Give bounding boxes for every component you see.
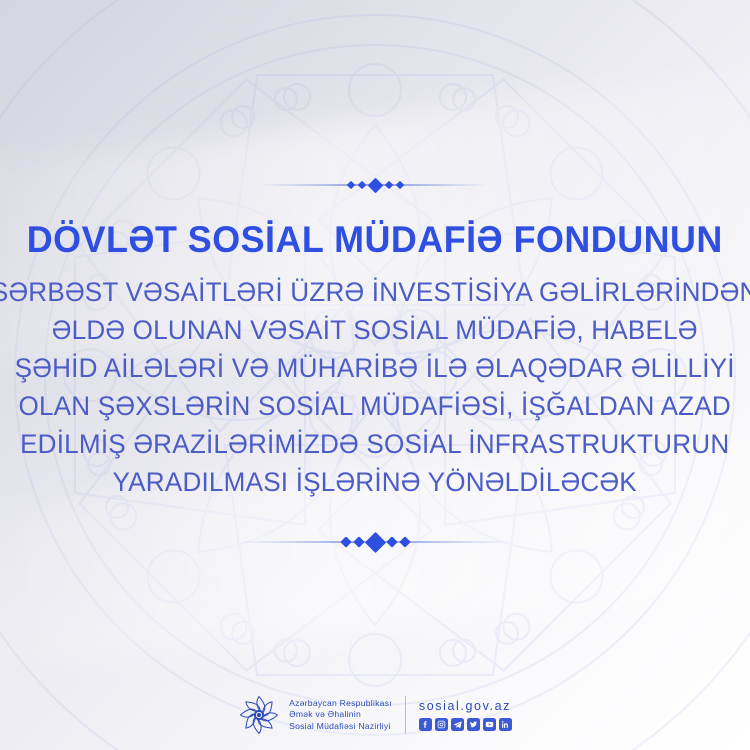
body-paragraph: SƏRBƏST VƏSAİTLƏRİ ÜZRƏ İNVESTİSİYA GƏLİ…	[0, 273, 750, 501]
facebook-icon[interactable]	[419, 718, 432, 731]
ministry-brand[interactable]: Azərbaycan Respublikası Əmək və Əhalinin…	[238, 694, 392, 736]
ministry-line: Azərbaycan Respublikası	[289, 698, 392, 709]
web-and-socials: sosial.gov.az	[419, 699, 512, 731]
diamond-icon	[340, 537, 351, 548]
body-line: ŞƏHİD AİLƏLƏRİ VƏ MÜHARİBƏ İLƏ ƏLAQƏDAR …	[0, 349, 750, 387]
top-divider	[348, 178, 403, 192]
bottom-divider	[342, 533, 409, 551]
instagram-icon[interactable]	[435, 718, 448, 731]
social-links	[419, 718, 512, 731]
poster-canvas: DÖVLƏT SOSİAL MÜDAFİƏ FONDUNUN SƏRBƏST V…	[0, 0, 750, 750]
diamond-icon	[346, 181, 354, 189]
youtube-icon[interactable]	[483, 718, 496, 731]
footer: Azərbaycan Respublikası Əmək və Əhalinin…	[0, 694, 750, 736]
twitter-icon[interactable]	[467, 718, 480, 731]
website-link[interactable]: sosial.gov.az	[419, 699, 511, 713]
linkedin-icon[interactable]	[499, 718, 512, 731]
footer-separator	[405, 696, 406, 734]
body-line: OLAN ŞƏXSLƏRİN SOSİAL MÜDAFİƏSİ, İŞĞALDA…	[0, 387, 750, 425]
ministry-line: Əmək və Əhalinin	[289, 709, 392, 720]
diamond-icon	[395, 181, 403, 189]
body-line: ƏLDƏ OLUNAN VƏSAİT SOSİAL MÜDAFİƏ, HABEL…	[0, 311, 750, 349]
body-line: SƏRBƏST VƏSAİTLƏRİ ÜZRƏ İNVESTİSİYA GƏLİ…	[0, 273, 750, 311]
diamond-icon	[384, 181, 392, 189]
ministry-line: Sosial Müdafiəsi Nazirliyi	[289, 721, 392, 732]
page-title: DÖVLƏT SOSİAL MÜDAFİƏ FONDUNUN	[27, 220, 723, 259]
ministry-star-emblem-icon	[238, 694, 280, 736]
diamond-icon	[353, 537, 364, 548]
diamond-icon	[367, 177, 383, 193]
diamond-icon	[364, 532, 385, 553]
poster-content: DÖVLƏT SOSİAL MÜDAFİƏ FONDUNUN SƏRBƏST V…	[0, 0, 750, 750]
telegram-icon[interactable]	[451, 718, 464, 731]
body-line: EDİLMİŞ ƏRAZİLƏRİMİZDƏ SOSİAL İNFRASTRUK…	[0, 425, 750, 463]
diamond-icon	[386, 537, 397, 548]
body-line: YARADILMASI İŞLƏRİNƏ YÖNƏLDİLƏCƏK	[0, 463, 750, 501]
diamond-icon	[399, 537, 410, 548]
ministry-name: Azərbaycan Respublikası Əmək və Əhalinin…	[289, 698, 392, 732]
diamond-icon	[357, 181, 365, 189]
